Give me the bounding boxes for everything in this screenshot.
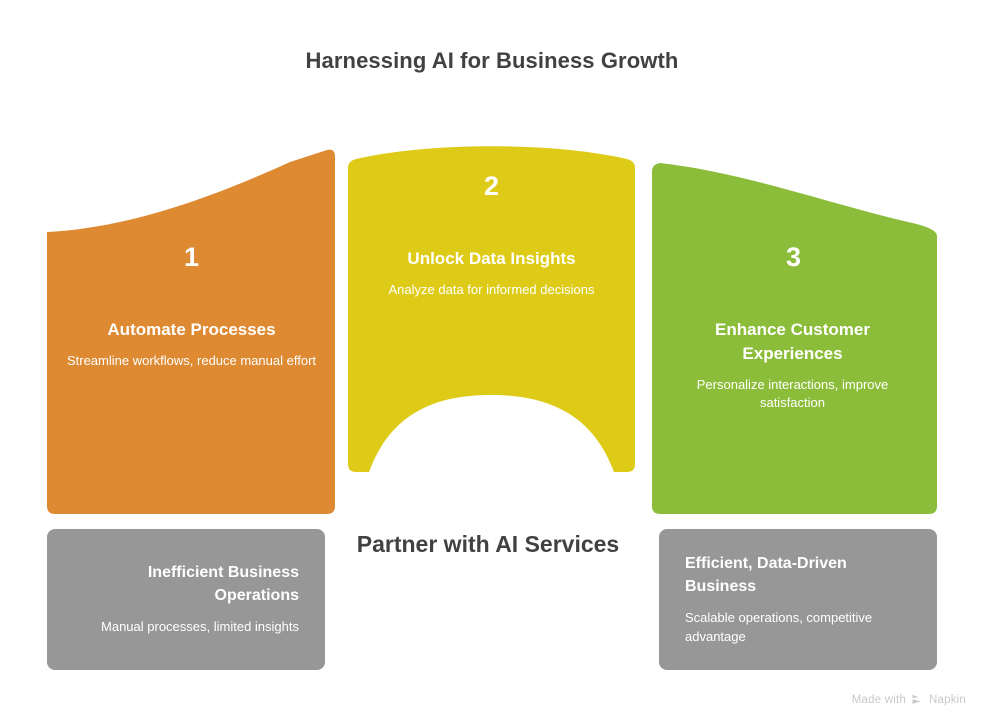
panel-2-description: Analyze data for informed decisions xyxy=(364,281,619,299)
panel-2-body: Unlock Data Insights Analyze data for in… xyxy=(364,247,619,299)
outcome-card-after[interactable]: Efficient, Data-Driven Business Scalable… xyxy=(659,529,937,670)
panel-3-title: Enhance Customer Experiences xyxy=(665,318,920,366)
napkin-chevron-logo-icon xyxy=(911,693,924,706)
panel-1-number: 1 xyxy=(50,243,333,273)
watermark-brand: Napkin xyxy=(929,694,966,706)
panel-1-description: Streamline workflows, reduce manual effo… xyxy=(64,352,319,370)
panel-3-description: Personalize interactions, improve satisf… xyxy=(665,376,920,412)
panel-1-body: Automate Processes Streamline workflows,… xyxy=(64,318,319,370)
panel-3-number: 3 xyxy=(652,243,935,273)
watermark[interactable]: Made with Napkin xyxy=(852,693,966,706)
panel-2-title: Unlock Data Insights xyxy=(364,247,619,271)
panel-3-body: Enhance Customer Experiences Personalize… xyxy=(665,318,920,412)
center-caption: Partner with AI Services xyxy=(352,529,624,559)
panel-1-title: Automate Processes xyxy=(64,318,319,342)
outcome-before-description: Manual processes, limited insights xyxy=(73,618,299,636)
outcome-card-before[interactable]: Inefficient Business Operations Manual p… xyxy=(47,529,325,670)
outcome-after-title: Efficient, Data-Driven Business xyxy=(685,553,911,598)
outcome-before-title: Inefficient Business Operations xyxy=(73,562,299,607)
watermark-prefix: Made with xyxy=(852,694,906,706)
panel-2-number: 2 xyxy=(350,172,633,202)
outcome-after-description: Scalable operations, competitive advanta… xyxy=(685,609,911,646)
infographic-canvas: Harnessing AI for Business Growth 1 Auto… xyxy=(0,0,984,720)
